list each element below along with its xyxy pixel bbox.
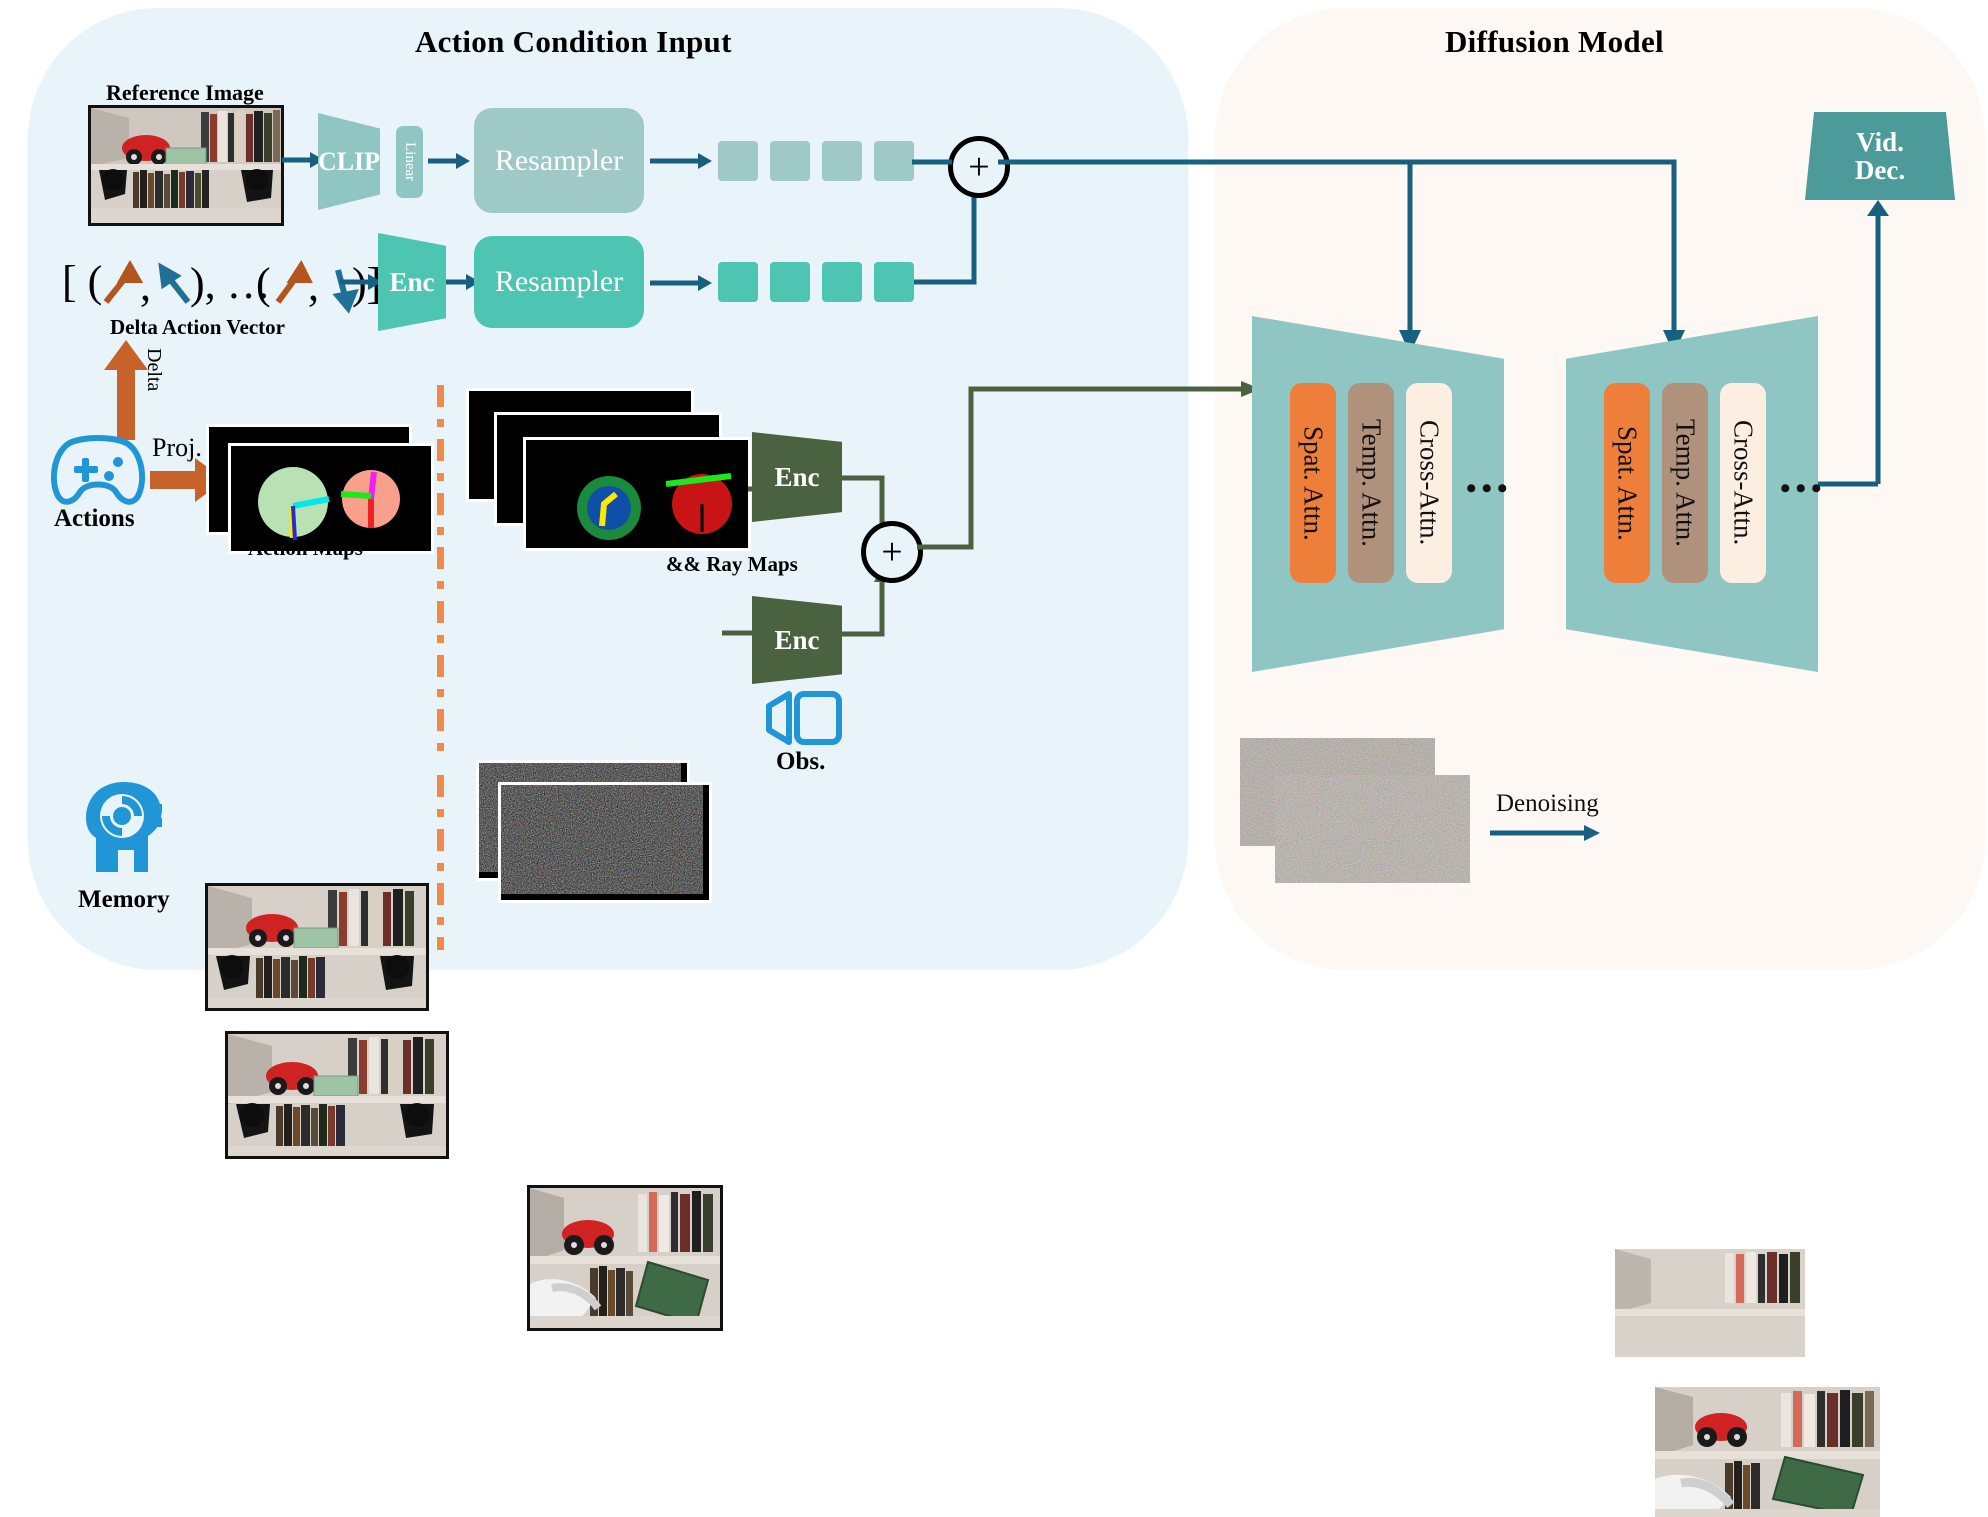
temp-attn-left-label: Temp. Attn. <box>1356 419 1387 547</box>
spat-attn-left-label: Spat. Attn. <box>1298 426 1329 541</box>
resampler-image-block[interactable]: Resampler <box>474 108 644 213</box>
right-panel-title: Diffusion Model <box>1445 24 1664 60</box>
delta-action-vector-art: [ ( , ), … ( , )] <box>60 250 380 320</box>
resampler-action-block[interactable]: Resampler <box>474 236 644 328</box>
svg-text:[ (: [ ( <box>62 257 102 306</box>
obs-camera-icon <box>765 690 841 746</box>
obs-frame-front-art <box>530 1188 720 1328</box>
svg-text:(: ( <box>256 259 271 308</box>
line-image-tokens-to-sum <box>912 158 952 168</box>
denoise-clean-front <box>1655 1387 1880 1517</box>
arrow-resampler-to-tokens-image <box>650 150 712 172</box>
reference-image-thumbnail <box>88 105 284 226</box>
divider-memory-obs <box>437 775 444 950</box>
temp-attn-left[interactable]: Temp. Attn. <box>1348 383 1394 583</box>
memory-frame-back-art <box>208 886 426 1008</box>
arrow-resampler-to-tokens-action <box>650 272 712 294</box>
arrow-vector-to-enc <box>340 271 382 293</box>
action-token-1 <box>718 262 758 302</box>
obs-encoder-block[interactable]: Enc <box>752 596 842 684</box>
obs-frame-front <box>527 1185 723 1331</box>
memory-frame-front-art <box>228 1034 446 1156</box>
ray-maps-label: && Ray Maps <box>666 552 798 577</box>
vid-dec-line1: Vid. <box>1856 128 1904 156</box>
spat-attn-left[interactable]: Spat. Attn. <box>1290 383 1336 583</box>
delta-arrow-label: Delta <box>142 348 165 397</box>
ray-enc-label: Enc <box>774 462 819 493</box>
cross-attn-right[interactable]: Cross-Attn. <box>1720 383 1766 583</box>
denoise-noisy-front-art <box>1275 775 1470 883</box>
divider-action-raymaps <box>437 385 444 755</box>
ray-map-front <box>523 437 751 551</box>
cross-attn-left-label: Cross-Attn. <box>1414 420 1445 545</box>
svg-text:,: , <box>140 261 151 310</box>
denoising-arrow <box>1490 822 1600 844</box>
left-panel-title: Action Condition Input <box>415 24 732 60</box>
obs-label: Obs. <box>776 748 825 776</box>
denoise-clean-front-art <box>1655 1387 1880 1517</box>
temp-attn-right[interactable]: Temp. Attn. <box>1662 383 1708 583</box>
svg-text:,: , <box>308 261 319 310</box>
denoise-clean-back-art <box>1615 1249 1805 1357</box>
action-token-3 <box>822 262 862 302</box>
noise-art-mid <box>501 785 703 894</box>
image-token-1 <box>718 141 758 181</box>
path-sum-to-unet <box>911 369 1261 551</box>
ray-map-art <box>526 440 742 542</box>
spat-attn-right[interactable]: Spat. Attn. <box>1604 383 1650 583</box>
memory-frame-back <box>205 883 429 1011</box>
obs-noise-frame-mid <box>498 782 712 903</box>
denoise-clean-back <box>1615 1249 1805 1357</box>
arrow-ref-to-clip <box>282 148 324 172</box>
delta-action-vector-label: Delta Action Vector <box>110 315 285 340</box>
linear-label: Linear <box>401 142 418 181</box>
action-map-art <box>231 446 425 545</box>
temp-attn-right-label: Temp. Attn. <box>1670 419 1701 547</box>
denoising-label: Denoising <box>1496 790 1599 818</box>
image-token-4 <box>874 141 914 181</box>
raymap-encoder-block[interactable]: Enc <box>752 432 842 522</box>
resampler-image-label: Resampler <box>495 144 623 178</box>
action-token-2 <box>770 262 810 302</box>
spat-attn-right-label: Spat. Attn. <box>1612 426 1643 541</box>
vid-dec-line2: Dec. <box>1855 156 1905 184</box>
unet-right-ellipsis: ••• <box>1780 472 1827 506</box>
reference-image-label: Reference Image <box>106 80 264 106</box>
cross-attn-right-label: Cross-Attn. <box>1728 420 1759 545</box>
arrow-linear-to-resampler <box>428 150 470 172</box>
reference-image-art <box>91 108 281 223</box>
clip-label: CLIP <box>318 147 380 177</box>
cross-attn-left[interactable]: Cross-Attn. <box>1406 383 1452 583</box>
linear-projection-block[interactable]: Linear <box>396 126 423 198</box>
action-maps-label: Action Maps <box>248 536 363 561</box>
actions-label: Actions <box>54 505 135 533</box>
image-token-2 <box>770 141 810 181</box>
obs-enc-label: Enc <box>774 625 819 656</box>
gamepad-icon <box>48 432 148 507</box>
memory-frame-front <box>225 1031 449 1159</box>
memory-label: Memory <box>78 886 170 914</box>
action-enc-label: Enc <box>389 267 434 298</box>
delta-action-vector-expression: [ ( , ), … ( , )] <box>60 250 380 320</box>
unet-left-ellipsis: ••• <box>1466 472 1513 506</box>
denoise-noisy-front <box>1275 775 1470 883</box>
resampler-action-label: Resampler <box>495 265 623 299</box>
image-token-3 <box>822 141 862 181</box>
action-token-4 <box>874 262 914 302</box>
clip-encoder-block[interactable]: CLIP <box>318 113 380 210</box>
memory-brain-icon <box>78 776 170 876</box>
video-decoder-block[interactable]: Vid. Dec. <box>1805 112 1955 200</box>
action-encoder-block[interactable]: Enc <box>378 233 446 331</box>
